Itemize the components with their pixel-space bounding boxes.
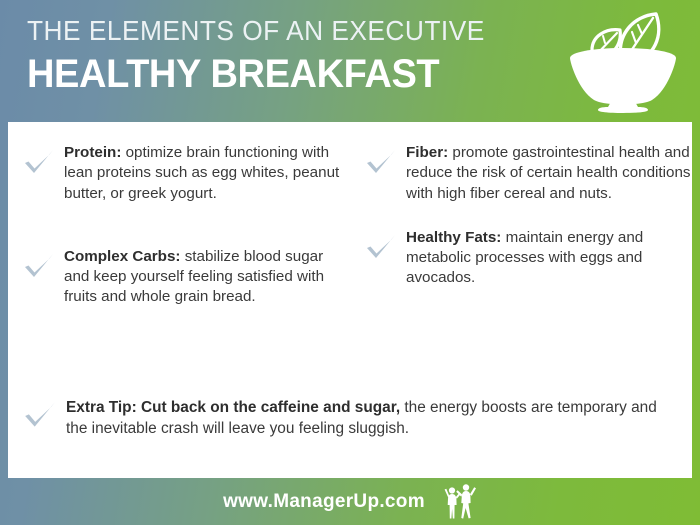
list-item-text: Complex Carbs: stabilize blood sugar and… [64,244,350,308]
list-item-lead: Complex Carbs: [64,248,180,265]
footer-bar: www.ManagerUp.com [0,478,700,525]
list-item-lead: Protein: [64,144,121,161]
two-dancing-figures-icon [443,481,477,523]
checkmark-icon [22,398,58,434]
list-item: Complex Carbs: stabilize blood sugar and… [22,244,350,308]
extra-tip-lead: Extra Tip: Cut back on the caffeine and … [66,399,400,416]
footer-website-url[interactable]: www.ManagerUp.com [223,491,425,513]
tips-columns: Protein: optimize brain functioning with… [8,122,692,308]
header-text-block: THE ELEMENTS OF AN EXECUTIVE HEALTHY BRE… [27,14,547,96]
checkmark-icon [364,146,398,180]
tips-column-right: Fiber: promote gastrointestinal health a… [350,122,692,308]
checkmark-icon [364,231,398,265]
list-item: Healthy Fats: maintain energy and metabo… [364,225,692,289]
list-item: Fiber: promote gastrointestinal health a… [364,140,692,204]
page-title: HEALTHY BREAKFAST [27,52,521,96]
list-item-lead: Fiber: [406,144,448,161]
list-item: Protein: optimize brain functioning with… [22,140,350,204]
list-item-text: Fiber: promote gastrointestinal health a… [406,140,692,204]
checkmark-icon [22,146,56,180]
content-panel: Protein: optimize brain functioning with… [8,122,692,478]
extra-tip-text: Extra Tip: Cut back on the caffeine and … [66,394,682,439]
header-banner: THE ELEMENTS OF AN EXECUTIVE HEALTHY BRE… [0,0,700,122]
checkmark-icon [22,250,56,284]
extra-tip-row: Extra Tip: Cut back on the caffeine and … [22,394,682,439]
tips-column-left: Protein: optimize brain functioning with… [8,122,350,308]
infographic-canvas: THE ELEMENTS OF AN EXECUTIVE HEALTHY BRE… [0,0,700,525]
list-item-detail: promote gastrointestinal health and redu… [406,144,691,202]
page-eyebrow: THE ELEMENTS OF AN EXECUTIVE [27,14,516,48]
list-item-text: Protein: optimize brain functioning with… [64,140,350,204]
list-item-lead: Healthy Fats: [406,229,501,246]
bowl-with-leaves-icon [564,6,682,114]
list-item-text: Healthy Fats: maintain energy and metabo… [406,225,692,289]
